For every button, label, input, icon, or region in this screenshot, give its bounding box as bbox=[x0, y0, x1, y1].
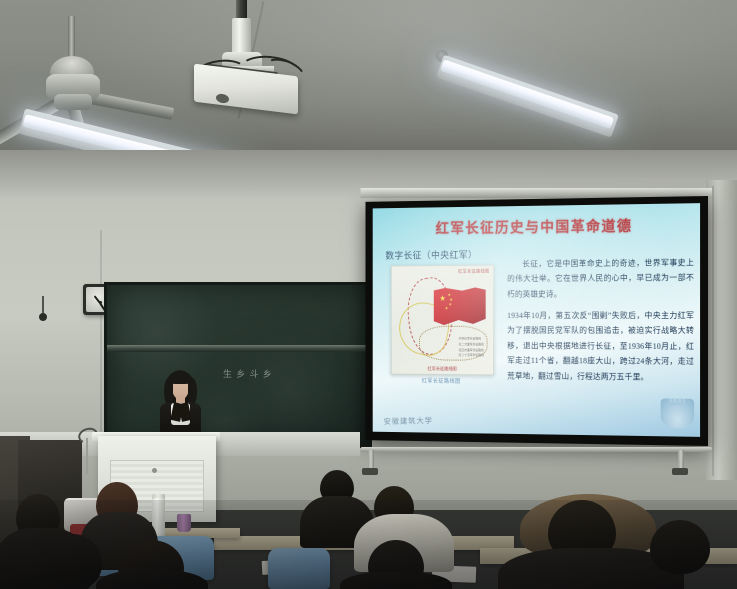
flag-star-large-icon: ★ bbox=[439, 295, 446, 303]
ceiling-projector bbox=[186, 0, 306, 110]
slide-subtitle: 数字长征（中央红军） bbox=[385, 247, 477, 261]
presenter-hair-left bbox=[164, 378, 173, 405]
podium-knob bbox=[152, 468, 157, 473]
slide-body-text: 长征，它是中国革命史上的奇迹，世界军事史上的伟大壮举。它在世界人民的心中，早已成… bbox=[507, 255, 694, 392]
screen-rail-foot bbox=[672, 468, 688, 475]
clock-center-pin bbox=[99, 301, 102, 304]
flag-star-small-icon: ★ bbox=[445, 307, 448, 311]
slide-paragraph-1: 长征，它是中国革命史上的奇迹，世界军事史上的伟大壮举。它在世界人民的心中，早已成… bbox=[507, 255, 694, 301]
map-header-label: 红军长征路线图 bbox=[458, 269, 489, 275]
blackboard: 生 乡 斗 乡 bbox=[104, 282, 372, 448]
screen-rail-foot bbox=[362, 468, 378, 475]
wall-hook bbox=[39, 313, 47, 321]
presenter-hair-right bbox=[188, 378, 197, 405]
slide-title: 红军长征历史与中国革命道德 bbox=[373, 214, 700, 239]
flag-star-small-icon: ★ bbox=[449, 303, 452, 307]
wall-trim-line bbox=[712, 186, 714, 476]
cpc-flag-icon bbox=[434, 287, 486, 326]
blackboard-chalk-dust bbox=[107, 285, 369, 445]
wall-right-trim bbox=[706, 180, 737, 480]
lecture-hall-photo: 生 乡 斗 乡 红军长征历史与中国革命道德 数字长征（中央红军） 红军长征路线图… bbox=[0, 0, 737, 589]
map-outer-caption: 红军长征路线图 bbox=[391, 376, 492, 385]
fan-hub-lower bbox=[54, 94, 92, 110]
map-legend-item: 红二十五军长征路线 bbox=[459, 353, 491, 359]
map-legend: 中央红军长征路线 红二方面军长征路线 红四方面军长征路线 红二十五军长征路线 bbox=[459, 337, 491, 359]
slide-paragraph-2: 1934年10月，第五次反“围剿”失败后，中央主力红军为了摆脱国民党军队的包围追… bbox=[507, 308, 694, 385]
screen-rail-leg bbox=[678, 450, 684, 470]
slide-watermark: 安徽建筑大学 bbox=[383, 415, 433, 427]
screen-bottom-rail bbox=[360, 447, 712, 452]
slide-decorative-vase-icon bbox=[661, 398, 694, 428]
screen-rail-leg bbox=[368, 450, 374, 470]
blackboard-chalk-text: 生 乡 斗 乡 bbox=[223, 367, 273, 380]
projection-screen-frame: 红军长征历史与中国革命道德 数字长征（中央红军） 红军长征路线图 ★ ★ ★ ★… bbox=[365, 196, 708, 446]
map-inner-caption: 红军长征路线图 bbox=[392, 366, 493, 372]
foreground-shadow bbox=[0, 500, 737, 589]
blackboard-rail bbox=[107, 345, 369, 352]
slide-map-image: 红军长征路线图 ★ ★ ★ ★ ★ 中央红军长征路线 红二方面军长征路线 红四方… bbox=[391, 265, 494, 376]
projection-screen: 红军长征历史与中国革命道德 数字长征（中央红军） 红军长征路线图 ★ ★ ★ ★… bbox=[373, 203, 700, 437]
